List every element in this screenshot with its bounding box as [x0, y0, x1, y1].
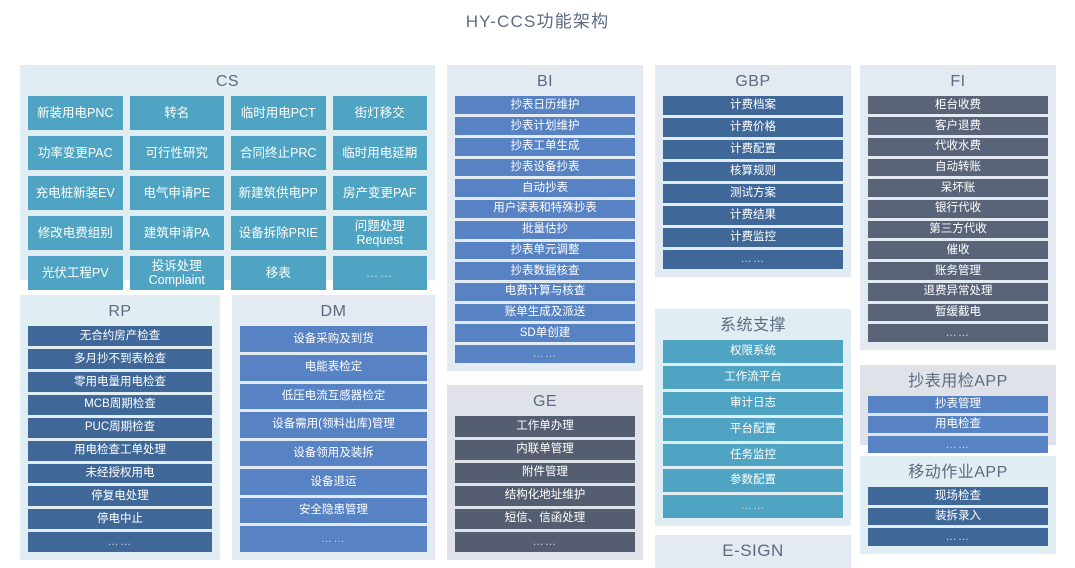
cell-cs-10[interactable]: 新建筑供电PP: [231, 176, 326, 210]
page-title: HY-CCS功能架构: [0, 0, 1075, 32]
cell-gbp-3[interactable]: 核算规则: [663, 162, 843, 181]
cell-meter-reading-inspection-app-0[interactable]: 抄表管理: [868, 396, 1048, 413]
cell-group-fi: 柜台收费客户退费代收水费自动转账呆坏账银行代收第三方代收催收账务管理退费异常处理…: [868, 96, 1048, 342]
panel-title-bi: BI: [455, 71, 635, 96]
cell-group-bi: 抄表日历维护抄表计划维护抄表工单生成抄表设备抄表自动抄表用户读表和特殊抄表批量估…: [455, 96, 635, 363]
panel-rp: RP无合约房产检查多月抄不到表检查零用电量用电检查MCB周期检查PUC周期检查用…: [20, 295, 220, 560]
cell-cs-0[interactable]: 新装用电PNC: [28, 96, 123, 130]
cell-dm-2[interactable]: 低压电流互感器检定: [240, 384, 427, 410]
cell-rp-1[interactable]: 多月抄不到表检查: [28, 349, 212, 369]
cell-cs-2[interactable]: 临时用电PCT: [231, 96, 326, 130]
panel-e-sign: E-SIGN: [655, 535, 851, 568]
cell-meter-reading-inspection-app-1[interactable]: 用电检查: [868, 416, 1048, 433]
panel-title-gbp: GBP: [663, 71, 843, 96]
panel-title-mobile-work-app: 移动作业APP: [868, 462, 1048, 487]
cell-fi-10[interactable]: 暂缓截电: [868, 304, 1048, 322]
cell-dm-4[interactable]: 设备领用及装拆: [240, 441, 427, 467]
cell-bi-5[interactable]: 用户读表和特殊抄表: [455, 200, 635, 218]
panel-mobile-work-app: 移动作业APP现场检查装拆录入……: [860, 456, 1056, 554]
cell-group-mobile-work-app: 现场检查装拆录入……: [868, 487, 1048, 546]
cell-more-ge[interactable]: ……: [455, 532, 635, 552]
cell-system-support-5[interactable]: 参数配置: [663, 469, 843, 492]
panel-dm: DM设备采购及到货电能表检定低压电流互感器检定设备需用(领料出库)管理设备领用及…: [232, 295, 435, 560]
cell-rp-5[interactable]: 用电检查工单处理: [28, 441, 212, 461]
panel-title-system-support: 系统支撑: [663, 315, 843, 340]
cell-more-cs[interactable]: ……: [333, 256, 428, 290]
cell-dm-5[interactable]: 设备退运: [240, 469, 427, 495]
cell-gbp-1[interactable]: 计费价格: [663, 118, 843, 137]
panel-title-fi: FI: [868, 71, 1048, 96]
cell-system-support-2[interactable]: 审计日志: [663, 392, 843, 415]
cell-group-system-support: 权限系统工作流平台审计日志平台配置任务监控参数配置……: [663, 340, 843, 518]
cell-cs-8[interactable]: 充电桩新装EV: [28, 176, 123, 210]
cell-cs-12[interactable]: 修改电费组别: [28, 216, 123, 250]
cell-cs-16[interactable]: 光伏工程PV: [28, 256, 123, 290]
cell-rp-6[interactable]: 未经授权用电: [28, 464, 212, 484]
cell-fi-9[interactable]: 退费异常处理: [868, 283, 1048, 301]
cell-group-meter-reading-inspection-app: 抄表管理用电检查……: [868, 396, 1048, 453]
panel-gbp: GBP计费档案计费价格计费配置核算规则测试方案计费结果计费监控……: [655, 65, 851, 277]
cell-system-support-0[interactable]: 权限系统: [663, 340, 843, 363]
panel-cs: CS新装用电PNC转名临时用电PCT街灯移交功率变更PAC可行性研究合同终止PR…: [20, 65, 435, 280]
panel-title-dm: DM: [240, 301, 427, 326]
cell-gbp-0[interactable]: 计费档案: [663, 96, 843, 115]
panel-title-cs: CS: [28, 71, 427, 96]
cell-fi-5[interactable]: 银行代收: [868, 200, 1048, 218]
cell-dm-3[interactable]: 设备需用(领料出库)管理: [240, 412, 427, 438]
cell-group-ge: 工作单办理内联单管理附件管理结构化地址维护短信、信函处理……: [455, 416, 635, 552]
cell-cs-1[interactable]: 转名: [130, 96, 225, 130]
cell-fi-1[interactable]: 客户退费: [868, 117, 1048, 135]
cell-fi-4[interactable]: 呆坏账: [868, 179, 1048, 197]
cell-more-dm[interactable]: ……: [240, 526, 427, 552]
cell-more-fi[interactable]: ……: [868, 324, 1048, 342]
cell-rp-2[interactable]: 零用电量用电检查: [28, 372, 212, 392]
cell-system-support-1[interactable]: 工作流平台: [663, 366, 843, 389]
panel-title-e-sign: E-SIGN: [722, 541, 784, 561]
cell-fi-8[interactable]: 账务管理: [868, 262, 1048, 280]
cell-gbp-2[interactable]: 计费配置: [663, 140, 843, 159]
cell-cs-7[interactable]: 临时用电延期: [333, 136, 428, 170]
cell-fi-7[interactable]: 催收: [868, 241, 1048, 259]
cell-cs-13[interactable]: 建筑申请PA: [130, 216, 225, 250]
cell-fi-6[interactable]: 第三方代收: [868, 221, 1048, 239]
panel-ge: GE工作单办理内联单管理附件管理结构化地址维护短信、信函处理……: [447, 385, 643, 560]
cell-more-meter-reading-inspection-app[interactable]: ……: [868, 436, 1048, 453]
cell-bi-0[interactable]: 抄表日历维护: [455, 96, 635, 114]
cell-ge-3[interactable]: 结构化地址维护: [455, 486, 635, 506]
cell-system-support-3[interactable]: 平台配置: [663, 418, 843, 441]
cell-system-support-4[interactable]: 任务监控: [663, 444, 843, 467]
cell-bi-6[interactable]: 批量估抄: [455, 221, 635, 239]
cell-more-rp[interactable]: ……: [28, 532, 212, 552]
cell-cs-14[interactable]: 设备拆除PRIE: [231, 216, 326, 250]
cell-cs-11[interactable]: 房产变更PAF: [333, 176, 428, 210]
cell-gbp-5[interactable]: 计费结果: [663, 206, 843, 225]
cell-more-mobile-work-app[interactable]: ……: [868, 528, 1048, 546]
cell-bi-1[interactable]: 抄表计划维护: [455, 117, 635, 135]
panel-meter-reading-inspection-app: 抄表用检APP抄表管理用电检查……: [860, 365, 1056, 445]
cell-bi-8[interactable]: 抄表数据核查: [455, 262, 635, 280]
cell-ge-2[interactable]: 附件管理: [455, 463, 635, 483]
cell-rp-0[interactable]: 无合约房产检查: [28, 326, 212, 346]
panel-title-meter-reading-inspection-app: 抄表用检APP: [868, 371, 1048, 396]
cell-bi-10[interactable]: 账单生成及派送: [455, 304, 635, 322]
cell-group-dm: 设备采购及到货电能表检定低压电流互感器检定设备需用(领料出库)管理设备领用及装拆…: [240, 326, 427, 552]
cell-more-system-support[interactable]: ……: [663, 495, 843, 518]
panel-bi: BI抄表日历维护抄表计划维护抄表工单生成抄表设备抄表自动抄表用户读表和特殊抄表批…: [447, 65, 643, 371]
cell-rp-8[interactable]: 停电中止: [28, 509, 212, 529]
cell-dm-1[interactable]: 电能表检定: [240, 355, 427, 381]
panel-system-support: 系统支撑权限系统工作流平台审计日志平台配置任务监控参数配置……: [655, 309, 851, 526]
cell-ge-0[interactable]: 工作单办理: [455, 416, 635, 436]
cell-fi-0[interactable]: 柜台收费: [868, 96, 1048, 114]
cell-gbp-4[interactable]: 测试方案: [663, 184, 843, 203]
cell-more-bi[interactable]: ……: [455, 345, 635, 363]
cell-cs-6[interactable]: 合同终止PRC: [231, 136, 326, 170]
cell-group-cs: 新装用电PNC转名临时用电PCT街灯移交功率变更PAC可行性研究合同终止PRC临…: [28, 96, 427, 290]
panel-title-ge: GE: [455, 391, 635, 416]
cell-bi-7[interactable]: 抄表单元调整: [455, 242, 635, 260]
cell-cs-15[interactable]: 问题处理 Request: [333, 216, 428, 250]
cell-dm-6[interactable]: 安全隐患管理: [240, 498, 427, 524]
cell-bi-11[interactable]: SD单创建: [455, 324, 635, 342]
cell-cs-4[interactable]: 功率变更PAC: [28, 136, 123, 170]
cell-dm-0[interactable]: 设备采购及到货: [240, 326, 427, 352]
panel-fi: FI柜台收费客户退费代收水费自动转账呆坏账银行代收第三方代收催收账务管理退费异常…: [860, 65, 1056, 350]
cell-fi-2[interactable]: 代收水费: [868, 138, 1048, 156]
cell-bi-3[interactable]: 抄表设备抄表: [455, 159, 635, 177]
cell-fi-3[interactable]: 自动转账: [868, 159, 1048, 177]
cell-bi-2[interactable]: 抄表工单生成: [455, 138, 635, 156]
cell-ge-1[interactable]: 内联单管理: [455, 440, 635, 460]
cell-more-gbp[interactable]: ……: [663, 250, 843, 269]
cell-group-rp: 无合约房产检查多月抄不到表检查零用电量用电检查MCB周期检查PUC周期检查用电检…: [28, 326, 212, 552]
cell-cs-5[interactable]: 可行性研究: [130, 136, 225, 170]
panel-title-rp: RP: [28, 301, 212, 326]
cell-mobile-work-app-1[interactable]: 装拆录入: [868, 508, 1048, 526]
cell-group-gbp: 计费档案计费价格计费配置核算规则测试方案计费结果计费监控……: [663, 96, 843, 269]
cell-rp-3[interactable]: MCB周期检查: [28, 395, 212, 415]
cell-rp-4[interactable]: PUC周期检查: [28, 418, 212, 438]
cell-cs-3[interactable]: 街灯移交: [333, 96, 428, 130]
cell-mobile-work-app-0[interactable]: 现场检查: [868, 487, 1048, 505]
cell-cs-17[interactable]: 投诉处理 Complaint: [130, 256, 225, 290]
cell-cs-18[interactable]: 移表: [231, 256, 326, 290]
cell-bi-4[interactable]: 自动抄表: [455, 179, 635, 197]
cell-rp-7[interactable]: 停复电处理: [28, 486, 212, 506]
cell-gbp-6[interactable]: 计费监控: [663, 228, 843, 247]
cell-ge-4[interactable]: 短信、信函处理: [455, 509, 635, 529]
architecture-diagram: CS新装用电PNC转名临时用电PCT街灯移交功率变更PAC可行性研究合同终止PR…: [0, 32, 1075, 557]
cell-cs-9[interactable]: 电气申请PE: [130, 176, 225, 210]
cell-bi-9[interactable]: 电费计算与核查: [455, 283, 635, 301]
